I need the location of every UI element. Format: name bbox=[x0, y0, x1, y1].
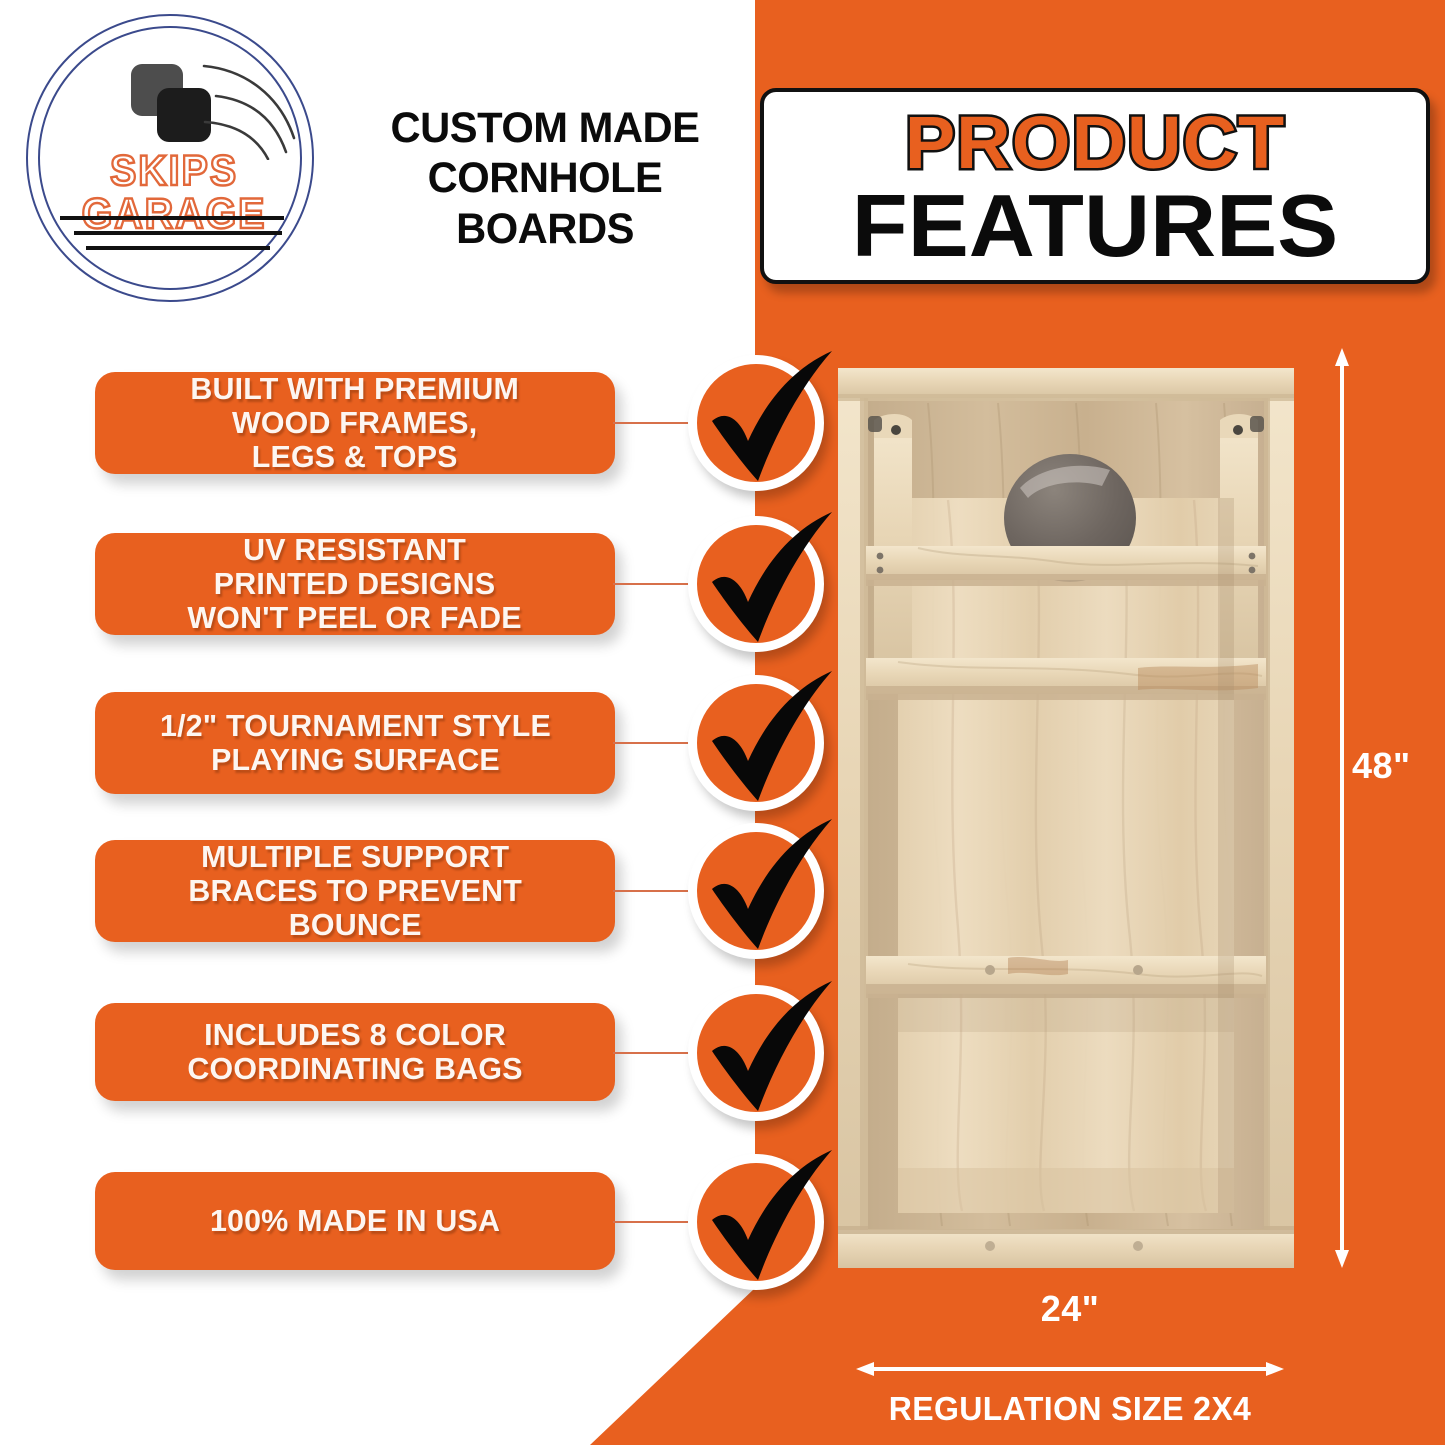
feature-pill-4[interactable]: MULTIPLE SUPPORT BRACES TO PREVENT BOUNC… bbox=[95, 840, 615, 942]
logo-rule-3 bbox=[86, 246, 270, 250]
feature-pill-1-text: BUILT WITH PREMIUM WOOD FRAMES, LEGS & T… bbox=[191, 372, 520, 474]
dimension-height-arrow bbox=[1330, 348, 1354, 1268]
feature-2-line-2: PRINTED DESIGNS bbox=[214, 566, 495, 601]
feature-pill-2-text: UV RESISTANT PRINTED DESIGNS WON'T PEEL … bbox=[188, 533, 522, 635]
feature-connector-1 bbox=[613, 422, 693, 424]
feature-4-line-2: BRACES TO PREVENT bbox=[188, 873, 522, 908]
page-title-line-3: BOARDS bbox=[351, 204, 739, 254]
logo-rule-1 bbox=[60, 216, 284, 220]
checkmark-icon bbox=[682, 663, 840, 823]
feature-1-line-3: LEGS & TOPS bbox=[252, 439, 458, 474]
feature-pill-4-text: MULTIPLE SUPPORT BRACES TO PREVENT BOUNC… bbox=[188, 840, 522, 942]
dimension-height-label: 48" bbox=[1352, 745, 1411, 787]
motion-arcs-icon bbox=[198, 60, 308, 160]
feature-5-line-1: INCLUDES 8 COLOR bbox=[204, 1017, 506, 1052]
feature-check-4 bbox=[688, 823, 824, 959]
checkmark-icon bbox=[682, 343, 840, 503]
feature-connector-3 bbox=[613, 742, 693, 744]
checkmark-icon bbox=[682, 811, 840, 971]
badge-word-features: FEATURES bbox=[751, 182, 1439, 270]
dimension-width-arrow bbox=[856, 1358, 1284, 1380]
feature-pill-6[interactable]: 100% MADE IN USA bbox=[95, 1172, 615, 1270]
feature-6-line-1: 100% MADE IN USA bbox=[210, 1203, 500, 1238]
feature-pill-3[interactable]: 1/2" TOURNAMENT STYLE PLAYING SURFACE bbox=[95, 692, 615, 794]
feature-pill-6-text: 100% MADE IN USA bbox=[210, 1204, 500, 1238]
checkmark-icon bbox=[682, 973, 840, 1133]
cornhole-board-photo bbox=[838, 368, 1294, 1268]
feature-check-3 bbox=[688, 675, 824, 811]
feature-pill-2[interactable]: UV RESISTANT PRINTED DESIGNS WON'T PEEL … bbox=[95, 533, 615, 635]
feature-pill-5[interactable]: INCLUDES 8 COLOR COORDINATING BAGS bbox=[95, 1003, 615, 1101]
feature-check-1 bbox=[688, 355, 824, 491]
page-title-line-1: CUSTOM MADE bbox=[351, 103, 739, 153]
feature-1-line-2: WOOD FRAMES, bbox=[232, 405, 477, 440]
feature-check-2 bbox=[688, 516, 824, 652]
feature-pill-1[interactable]: BUILT WITH PREMIUM WOOD FRAMES, LEGS & T… bbox=[95, 372, 615, 474]
feature-check-6 bbox=[688, 1154, 824, 1290]
dimension-width-label: 24" bbox=[856, 1288, 1284, 1330]
feature-2-line-3: WON'T PEEL OR FADE bbox=[188, 600, 522, 635]
feature-1-line-1: BUILT WITH PREMIUM bbox=[191, 371, 520, 406]
feature-connector-4 bbox=[613, 890, 693, 892]
page-title-line-2: CORNHOLE bbox=[351, 153, 739, 203]
feature-4-line-3: BOUNCE bbox=[289, 907, 422, 942]
feature-connector-5 bbox=[613, 1052, 693, 1054]
feature-pill-3-text: 1/2" TOURNAMENT STYLE PLAYING SURFACE bbox=[159, 709, 550, 777]
regulation-size-caption: REGULATION SIZE 2X4 bbox=[837, 1390, 1303, 1428]
checkmark-icon bbox=[682, 1142, 840, 1302]
checkmark-icon bbox=[682, 504, 840, 664]
badge-word-product: PRODUCT bbox=[757, 106, 1432, 180]
product-features-infographic: SKIPS GARAGE CUSTOM MADE CORNHOLE BOARDS… bbox=[0, 0, 1445, 1445]
feature-pill-5-text: INCLUDES 8 COLOR COORDINATING BAGS bbox=[187, 1018, 522, 1086]
feature-check-5 bbox=[688, 985, 824, 1121]
feature-connector-6 bbox=[613, 1221, 693, 1223]
feature-5-line-2: COORDINATING BAGS bbox=[187, 1051, 522, 1086]
feature-connector-2 bbox=[613, 583, 693, 585]
feature-3-line-2: PLAYING SURFACE bbox=[211, 742, 500, 777]
feature-2-line-1: UV RESISTANT bbox=[244, 532, 467, 567]
logo-rule-2 bbox=[74, 231, 282, 235]
page-title: CUSTOM MADE CORNHOLE BOARDS bbox=[351, 103, 739, 254]
logo-wordmark: SKIPS GARAGE bbox=[30, 150, 317, 236]
product-features-badge: PRODUCT FEATURES bbox=[760, 88, 1430, 284]
feature-3-line-1: 1/2" TOURNAMENT STYLE bbox=[159, 708, 550, 743]
brand-logo: SKIPS GARAGE bbox=[18, 10, 330, 306]
feature-4-line-1: MULTIPLE SUPPORT bbox=[201, 839, 509, 874]
